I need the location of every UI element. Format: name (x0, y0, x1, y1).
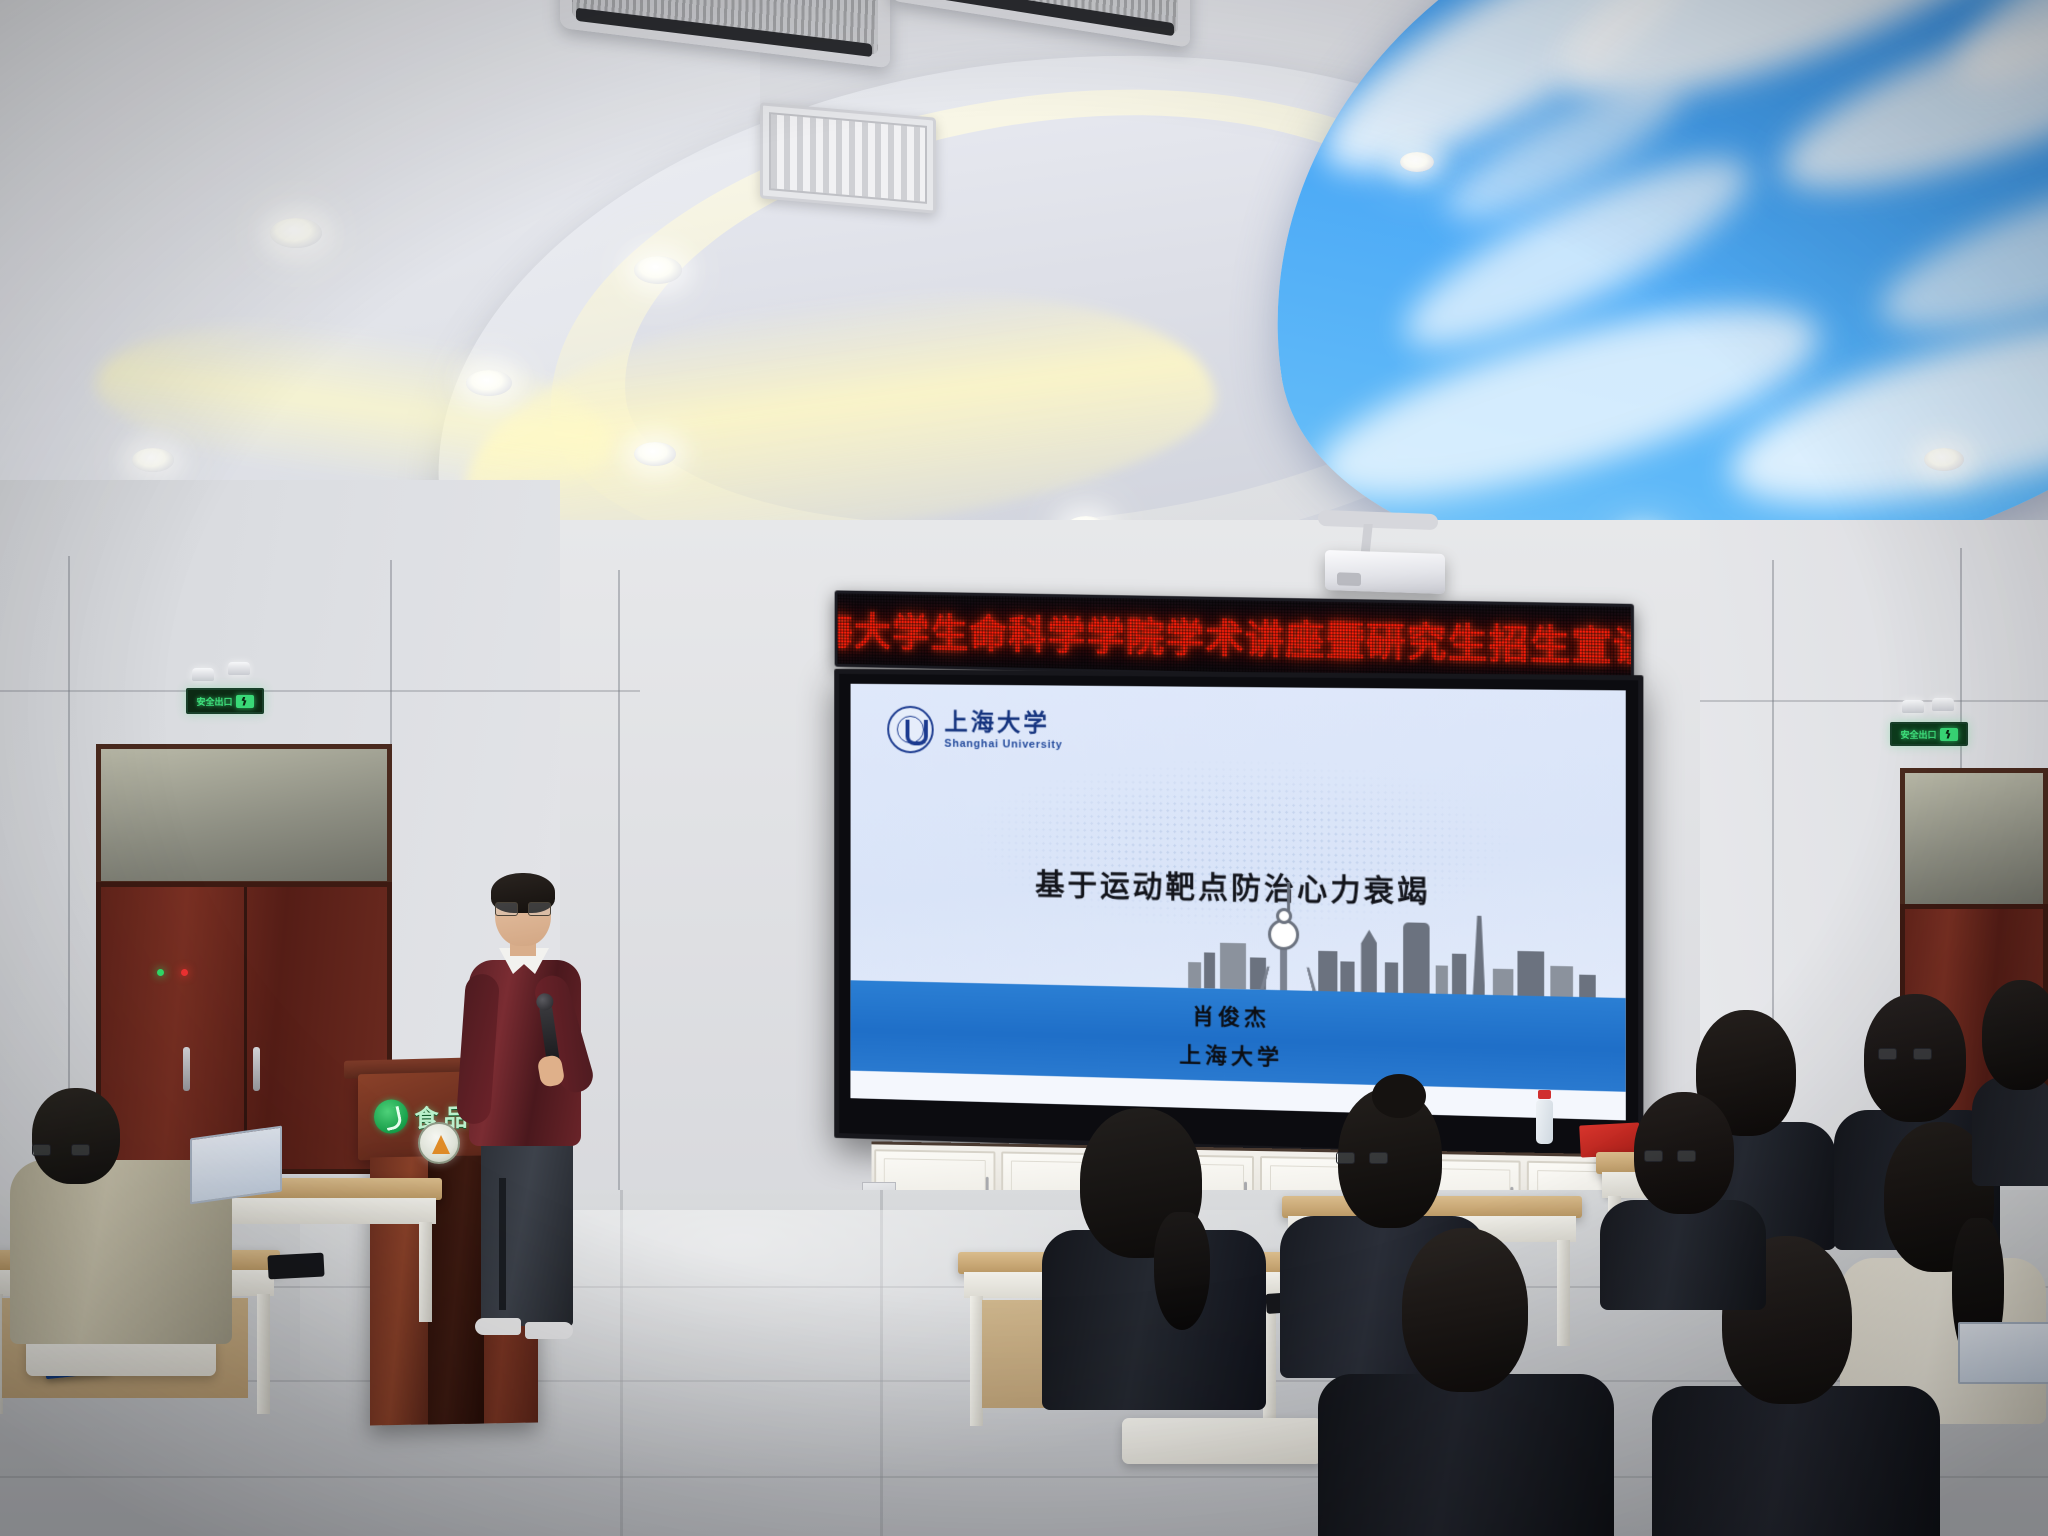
audience-member (1600, 1092, 1770, 1302)
building-silhouette (1580, 975, 1597, 998)
exit-sign-left: 安全出口 (186, 688, 264, 714)
podium-emblem-icon (418, 1122, 460, 1164)
desk-leg (419, 1222, 432, 1322)
wall-panel-seam (68, 556, 70, 1096)
ventilation-grille (760, 102, 936, 213)
recessed-downlight (466, 370, 512, 396)
ventilation-louvers (769, 112, 927, 204)
recessed-downlight (634, 442, 676, 466)
speaker-glasses-icon (495, 902, 551, 914)
recessed-downlight (634, 256, 682, 284)
person-glasses-icon (1878, 1048, 1932, 1058)
speaker-presenter (455, 878, 605, 1358)
water-bottle[interactable] (1536, 1100, 1553, 1144)
desk-leg (257, 1294, 270, 1414)
person-hair-bun (1372, 1074, 1426, 1118)
audience-member (1972, 980, 2048, 1180)
person-head-hair (1982, 980, 2048, 1090)
building-silhouette (1385, 962, 1398, 993)
shanghai-skyline-graphic (1185, 904, 1610, 998)
door-center-seam (244, 887, 247, 1169)
door-transom-window (1900, 768, 2048, 912)
food-college-logo-icon (374, 1099, 408, 1134)
exit-sign-right: 安全出口 (1890, 722, 1968, 746)
bottle-cap (1538, 1090, 1551, 1099)
door-transom-window (96, 744, 392, 886)
presenter-name: 肖俊杰 (1192, 999, 1270, 1033)
running-person-icon (236, 695, 254, 708)
speaker-trousers (481, 1136, 573, 1326)
person-head-hair (32, 1088, 120, 1184)
door-status-led-green (157, 969, 164, 976)
jinmao-tower-silhouette (1361, 930, 1377, 993)
emergency-light (192, 668, 214, 681)
lecture-hall-photo: 安全出口 安全出口 上海大学生命科学学院学术讲座暨研究生招生宣讲会 (0, 0, 2048, 1536)
building-silhouette (1205, 952, 1216, 988)
recessed-downlight (270, 218, 322, 248)
presentation-slide: 上海大学 Shanghai University 基于运动靶点防治心力衰竭 (851, 684, 1626, 1121)
person-ponytail (1154, 1212, 1210, 1330)
running-person-icon (1940, 728, 1958, 741)
exit-sign-label: 安全出口 (196, 695, 232, 708)
speaker-shoe-left (475, 1318, 521, 1335)
person-glasses-icon (1644, 1150, 1696, 1160)
wall-panel-seam (0, 690, 640, 692)
swfc-tower-silhouette (1404, 922, 1430, 993)
person-coat (1972, 1076, 2048, 1186)
recessed-downlight (1400, 152, 1434, 172)
university-seal-icon (887, 706, 933, 754)
audience-member (1318, 1228, 1618, 1536)
projector-lens (1337, 572, 1361, 586)
emergency-light (1902, 700, 1924, 713)
building-silhouette (1436, 965, 1448, 994)
door-handle[interactable] (253, 1047, 260, 1091)
oriental-pearl-spire (1288, 882, 1291, 912)
laptop[interactable] (190, 1126, 282, 1205)
oriental-pearl-legs (1260, 967, 1316, 992)
led-banner-text: 上海大学生命科学学院学术讲座暨研究生招生宣讲会 (835, 600, 1634, 674)
chair-backrest[interactable] (1122, 1418, 1322, 1464)
building-silhouette (1452, 954, 1466, 995)
smartphone[interactable] (267, 1253, 324, 1280)
emergency-light (228, 662, 250, 675)
ceiling-projector (1325, 550, 1445, 594)
person-head-hair (1402, 1228, 1528, 1392)
presenter-affiliation: 上海大学 (1179, 1037, 1283, 1072)
exit-sign-label: 安全出口 (1900, 728, 1936, 741)
ac-cassette-unit (890, 0, 1190, 48)
door-handle[interactable] (183, 1047, 190, 1091)
audience-member (10, 1088, 240, 1348)
building-silhouette (1319, 951, 1338, 992)
laptop[interactable] (1958, 1322, 2048, 1384)
building-silhouette (1551, 966, 1574, 997)
wall-panel-seam (1700, 700, 2048, 702)
wall-panel-seam (618, 570, 620, 1220)
building-silhouette (1189, 962, 1202, 988)
person-glasses-icon (32, 1144, 90, 1154)
person-coat (1600, 1200, 1766, 1310)
shanghai-tower-silhouette (1473, 916, 1485, 995)
speaker-leg-gap (499, 1178, 506, 1310)
audience-member (1042, 1108, 1272, 1408)
building-silhouette (1518, 951, 1545, 996)
recessed-downlight (1924, 448, 1964, 471)
door-status-led-red (181, 969, 188, 976)
building-silhouette (1220, 943, 1246, 990)
speaker-shoe-right (525, 1322, 573, 1339)
shanghai-university-logo: 上海大学 Shanghai University (887, 706, 1062, 755)
university-name-en: Shanghai University (944, 738, 1062, 751)
university-name-zh: 上海大学 (944, 710, 1062, 736)
person-glasses-icon (1336, 1152, 1388, 1162)
building-silhouette (1493, 969, 1513, 996)
recessed-downlight (132, 448, 174, 472)
person-coat (1318, 1374, 1614, 1536)
building-silhouette (1341, 961, 1355, 991)
emergency-light (1932, 698, 1954, 711)
person-coat (1652, 1386, 1940, 1536)
projection-screen: 上海大学 Shanghai University 基于运动靶点防治心力衰竭 (834, 669, 1643, 1163)
